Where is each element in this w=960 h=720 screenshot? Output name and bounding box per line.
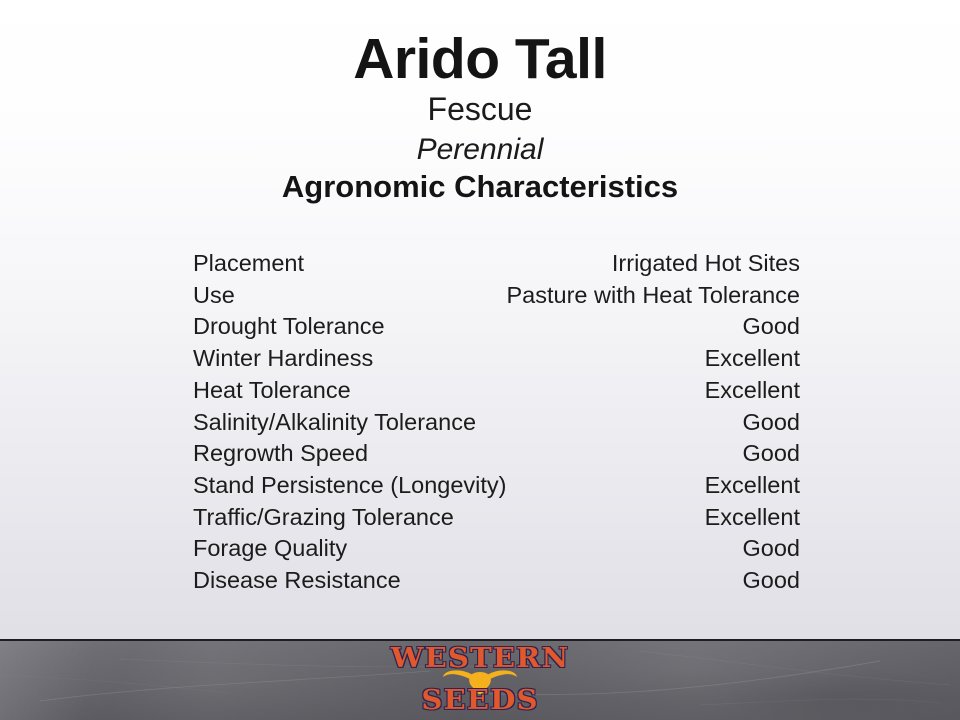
- row-label: Heat Tolerance: [193, 375, 507, 407]
- row-label: Disease Resistance: [193, 565, 507, 597]
- row-label: Regrowth Speed: [193, 438, 507, 470]
- logo-word-western: WESTERN: [388, 645, 572, 672]
- table-row: Regrowth Speed Good: [193, 438, 800, 470]
- table-row: Winter Hardiness Excellent: [193, 343, 800, 375]
- life-cycle-subtitle: Perennial: [0, 128, 960, 167]
- agronomic-characteristics-table: Placement Irrigated Hot Sites Use Pastur…: [193, 248, 800, 597]
- table-row: Use Pasture with Heat Tolerance: [193, 280, 800, 312]
- slide-header: Arido Tall Fescue Perennial Agronomic Ch…: [0, 0, 960, 204]
- section-title: Agronomic Characteristics: [0, 167, 960, 205]
- row-label: Winter Hardiness: [193, 343, 507, 375]
- table-row: Drought Tolerance Good: [193, 311, 800, 343]
- row-value: Pasture with Heat Tolerance: [507, 280, 800, 312]
- row-label: Traffic/Grazing Tolerance: [193, 502, 507, 534]
- row-value: Irrigated Hot Sites: [507, 248, 800, 280]
- table-row: Salinity/Alkalinity Tolerance Good: [193, 407, 800, 439]
- row-label: Drought Tolerance: [193, 311, 507, 343]
- row-label: Use: [193, 280, 507, 312]
- row-value: Good: [507, 438, 800, 470]
- row-value: Good: [507, 407, 800, 439]
- page-title: Arido Tall: [0, 0, 960, 88]
- row-label: Salinity/Alkalinity Tolerance: [193, 407, 507, 439]
- row-value: Good: [507, 565, 800, 597]
- brand-logo: WESTERN SEEDS: [395, 645, 565, 717]
- table-row: Traffic/Grazing Tolerance Excellent: [193, 502, 800, 534]
- row-value: Excellent: [507, 375, 800, 407]
- row-value: Excellent: [507, 470, 800, 502]
- row-label: Placement: [193, 248, 507, 280]
- table-row: Disease Resistance Good: [193, 565, 800, 597]
- table-row: Forage Quality Good: [193, 533, 800, 565]
- species-subtitle: Fescue: [0, 88, 960, 128]
- logo-word-seeds: SEEDS: [388, 687, 572, 714]
- table-body: Placement Irrigated Hot Sites Use Pastur…: [193, 248, 800, 597]
- row-label: Stand Persistence (Longevity): [193, 470, 507, 502]
- table-row: Stand Persistence (Longevity) Excellent: [193, 470, 800, 502]
- table-row: Heat Tolerance Excellent: [193, 375, 800, 407]
- row-value: Good: [507, 533, 800, 565]
- footer-band: WESTERN SEEDS: [0, 639, 960, 720]
- table-row: Placement Irrigated Hot Sites: [193, 248, 800, 280]
- row-value: Good: [507, 311, 800, 343]
- row-label: Forage Quality: [193, 533, 507, 565]
- slide-canvas: Arido Tall Fescue Perennial Agronomic Ch…: [0, 0, 960, 720]
- row-value: Excellent: [507, 502, 800, 534]
- row-value: Excellent: [507, 343, 800, 375]
